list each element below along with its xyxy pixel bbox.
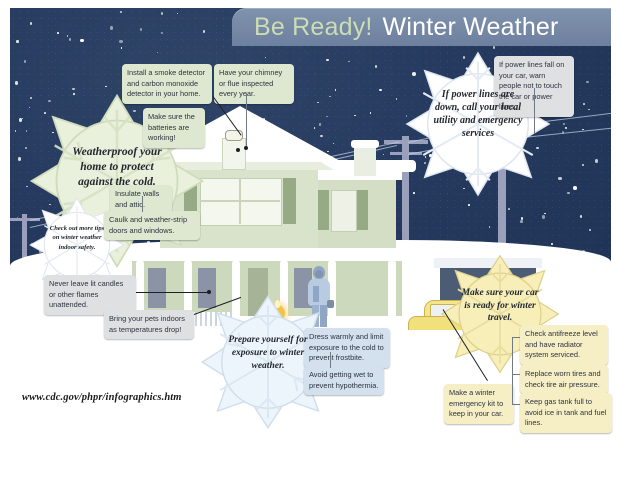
window-shutter <box>283 178 296 224</box>
leader-line-candles <box>136 292 210 293</box>
snow-dot <box>586 81 589 84</box>
wing-window <box>331 190 357 232</box>
callout-batteries: Make sure the batteries are working! <box>143 108 205 148</box>
snowflake-indoor-tips-label: Check out more tips on winter weather in… <box>46 224 108 253</box>
callout-emergency-kit: Make a winter emergency kit to keep in y… <box>444 384 514 424</box>
snow-dot <box>16 40 19 43</box>
snow-dot <box>573 186 577 190</box>
snow-dot <box>18 157 22 161</box>
snow-dot <box>24 60 27 63</box>
snow-dot <box>583 103 585 105</box>
snow-dot <box>72 88 75 91</box>
chimney-snow <box>351 140 379 148</box>
leader-dot-chimney <box>244 146 248 150</box>
title-be-ready: Be Ready! <box>254 13 373 42</box>
snowflake-power-lines-label: If power lines are down, call your local… <box>432 88 524 140</box>
callout-candles: Never leave lit candles or other flames … <box>44 275 136 315</box>
snow-dot <box>580 215 583 218</box>
snow-dot <box>25 147 27 149</box>
snow-dot <box>551 243 553 245</box>
callout-pets: Bring your pets indoors as temperatures … <box>104 310 194 339</box>
snow-dot <box>468 204 470 206</box>
snow-dot <box>326 59 329 62</box>
main-window <box>200 178 282 226</box>
chimney <box>354 144 376 176</box>
attic-window <box>222 138 246 170</box>
callout-hypothermia: Avoid getting wet to prevent hypothermia… <box>304 366 384 395</box>
leader-line-vertical-right <box>512 337 513 405</box>
leader-line-dress-warmly <box>330 352 331 368</box>
snow-dot <box>120 11 122 13</box>
window-shutter <box>357 190 368 230</box>
snow-dot <box>329 96 331 98</box>
snow-dot <box>508 208 510 210</box>
snow-dot <box>567 192 570 195</box>
footer-url: www.cdc.gov/phpr/infographics.htm <box>22 392 182 403</box>
snow-dot <box>375 65 378 68</box>
leader-dot-smoke-detector <box>236 148 240 152</box>
leader-line-tires <box>512 374 520 375</box>
snow-dot <box>161 12 164 15</box>
callout-antifreeze: Check antifreeze level and have radiator… <box>520 325 608 365</box>
snow-dot <box>563 123 565 125</box>
leader-line-antifreeze <box>512 337 520 338</box>
snow-dot <box>119 40 123 44</box>
snowflake-prepare-yourself-label: Prepare yourself for exposure to winter … <box>222 334 314 373</box>
callout-chimney: Have your chimney or flue inspected ever… <box>214 64 294 104</box>
snow-dot <box>595 159 599 163</box>
snow-dot <box>57 32 59 34</box>
snowflake-weatherproof-label: Weatherproof your home to protect agains… <box>62 145 172 190</box>
callout-caulk: Caulk and weather-strip doors and window… <box>104 211 200 240</box>
snow-dot <box>542 215 546 219</box>
porch-column <box>388 261 396 319</box>
leader-dot-candles <box>207 290 211 294</box>
leader-line-insulate <box>142 196 143 212</box>
leader-line-gas-tank <box>512 404 520 405</box>
porch-window <box>148 268 166 308</box>
snow-dot <box>67 35 69 37</box>
title-winter-weather: Winter Weather <box>383 13 559 42</box>
callout-dress-warmly: Dress warmly and limit exposure to the c… <box>304 328 390 368</box>
callout-tires: Replace worn tires and check tire air pr… <box>520 365 608 394</box>
snow-dot <box>544 213 546 215</box>
callout-gas-tank: Keep gas tank full to avoid ice in tank … <box>520 393 612 433</box>
window-shutter <box>318 190 329 230</box>
snowflake-car-ready-label: Make sure your car is ready for winter t… <box>460 287 540 325</box>
snow-dot <box>588 109 590 111</box>
leader-line-chimney <box>246 94 247 148</box>
title-banner: Be Ready! Winter Weather <box>232 8 611 46</box>
snow-dot <box>558 177 562 181</box>
snow-dot <box>203 30 206 33</box>
window-mullion <box>239 178 241 224</box>
leader-line-power-lines-car <box>534 88 535 134</box>
callout-smoke-detector: Install a smoke detector and carbon mono… <box>122 64 212 104</box>
infographic-poster: Be Ready! Winter Weather Weatherproof yo… <box>0 0 621 480</box>
person-face <box>315 270 323 278</box>
snow-dot <box>520 220 523 223</box>
